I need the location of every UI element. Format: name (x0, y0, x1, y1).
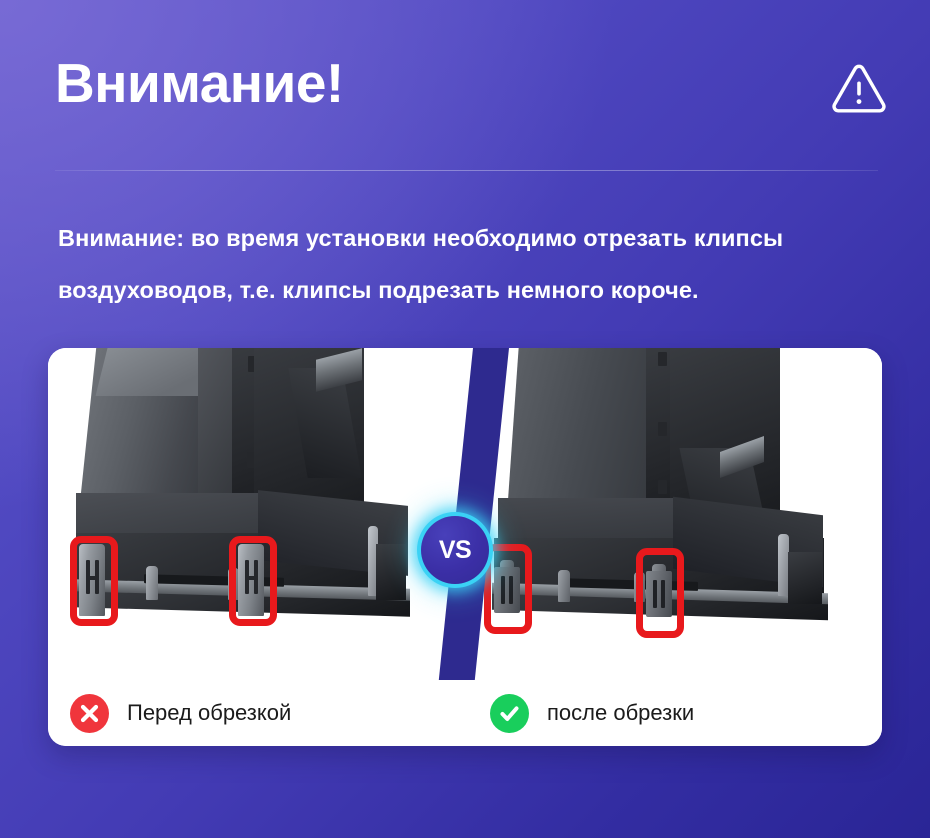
vs-label: VS (439, 538, 471, 563)
description-line-1: Внимание: во время установки необходимо … (58, 212, 886, 264)
before-caption-label: Перед обрезкой (127, 700, 291, 726)
after-caption-label: после обрезки (547, 700, 694, 726)
header-divider (55, 170, 878, 171)
after-caption: после обрезки (468, 680, 882, 746)
comparison-card: VS Перед обрезкой после обрезки (48, 348, 882, 746)
banner-description: Внимание: во время установки необходимо … (58, 212, 886, 316)
page-title: Внимание! (55, 56, 344, 111)
promo-banner: Внимание! Внимание: во время установки н… (0, 0, 930, 838)
cross-icon (70, 694, 109, 733)
vs-badge: VS (417, 512, 493, 588)
vs-core: VS (421, 516, 489, 584)
check-icon (490, 694, 529, 733)
caption-row: Перед обрезкой после обрезки (48, 680, 882, 746)
after-photo (458, 348, 882, 680)
highlight-box-after-2 (636, 548, 684, 638)
after-photo-pane (458, 348, 882, 680)
highlight-box-before-1 (70, 536, 118, 626)
description-line-2: воздуховодов, т.е. клипсы подрезать немн… (58, 264, 886, 316)
highlight-box-before-2 (229, 536, 277, 626)
before-photo (48, 348, 472, 680)
warning-triangle-icon (831, 63, 887, 115)
before-photo-pane (48, 348, 472, 680)
before-caption: Перед обрезкой (48, 680, 448, 746)
banner-header: Внимание! (0, 0, 930, 172)
